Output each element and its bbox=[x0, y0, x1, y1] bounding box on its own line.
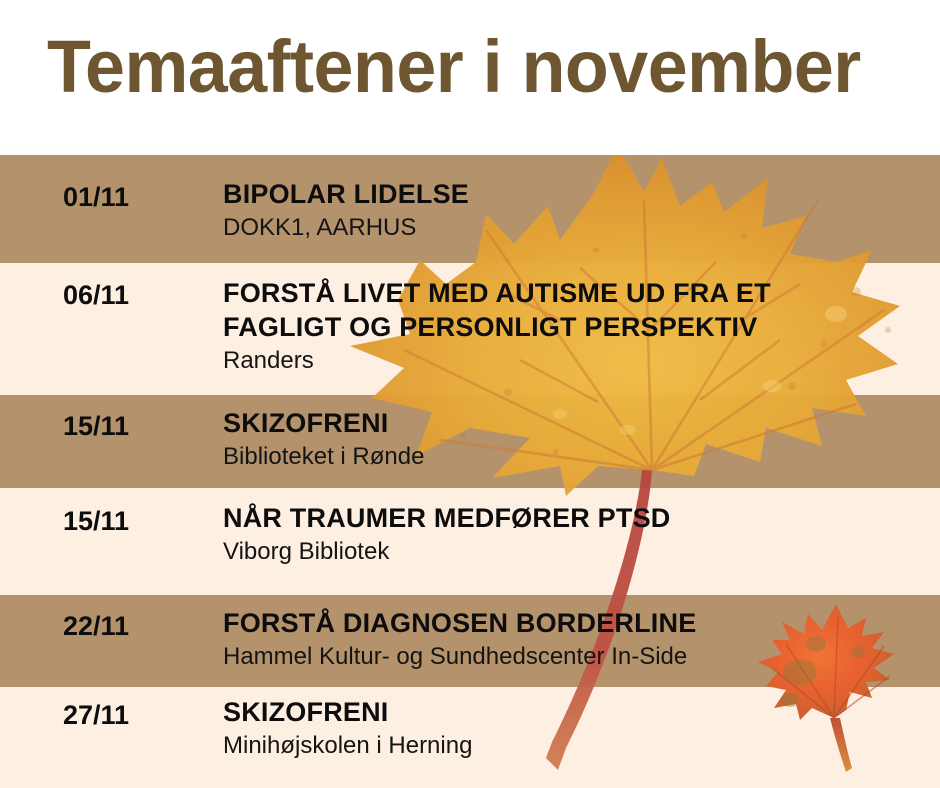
event-date: 06/11 bbox=[63, 280, 129, 311]
poster-canvas: Temaaftener i november 01/11BIPOLAR LIDE… bbox=[0, 0, 940, 788]
event-venue: Viborg Bibliotek bbox=[223, 537, 923, 567]
event-venue: Biblioteket i Rønde bbox=[223, 442, 923, 472]
event-title: NÅR TRAUMER MEDFØRER PTSD bbox=[223, 501, 923, 535]
event-date: 27/11 bbox=[63, 700, 129, 731]
title-bar: Temaaftener i november bbox=[0, 0, 940, 155]
event-venue: Randers bbox=[223, 346, 923, 376]
event-date: 01/11 bbox=[63, 182, 129, 213]
event-date: 15/11 bbox=[63, 506, 129, 537]
event-venue: DOKK1, AARHUS bbox=[223, 213, 923, 243]
event-date: 22/11 bbox=[63, 611, 129, 642]
event-body: FORSTÅ DIAGNOSEN BORDERLINEHammel Kultur… bbox=[223, 606, 923, 672]
event-title: FORSTÅ LIVET MED AUTISME UD FRA ET FAGLI… bbox=[223, 276, 923, 344]
event-title: SKIZOFRENI bbox=[223, 406, 923, 440]
event-date: 15/11 bbox=[63, 411, 129, 442]
event-venue: Minihøjskolen i Herning bbox=[223, 731, 923, 761]
event-title: BIPOLAR LIDELSE bbox=[223, 177, 923, 211]
event-body: BIPOLAR LIDELSEDOKK1, AARHUS bbox=[223, 177, 923, 243]
event-title: FORSTÅ DIAGNOSEN BORDERLINE bbox=[223, 606, 923, 640]
event-body: NÅR TRAUMER MEDFØRER PTSDViborg Bibliote… bbox=[223, 501, 923, 567]
page-title: Temaaftener i november bbox=[47, 24, 861, 110]
event-body: FORSTÅ LIVET MED AUTISME UD FRA ET FAGLI… bbox=[223, 276, 923, 376]
event-body: SKIZOFRENIMinihøjskolen i Herning bbox=[223, 695, 923, 761]
event-body: SKIZOFRENIBiblioteket i Rønde bbox=[223, 406, 923, 472]
event-title: SKIZOFRENI bbox=[223, 695, 923, 729]
event-venue: Hammel Kultur- og Sundhedscenter In-Side bbox=[223, 642, 923, 672]
